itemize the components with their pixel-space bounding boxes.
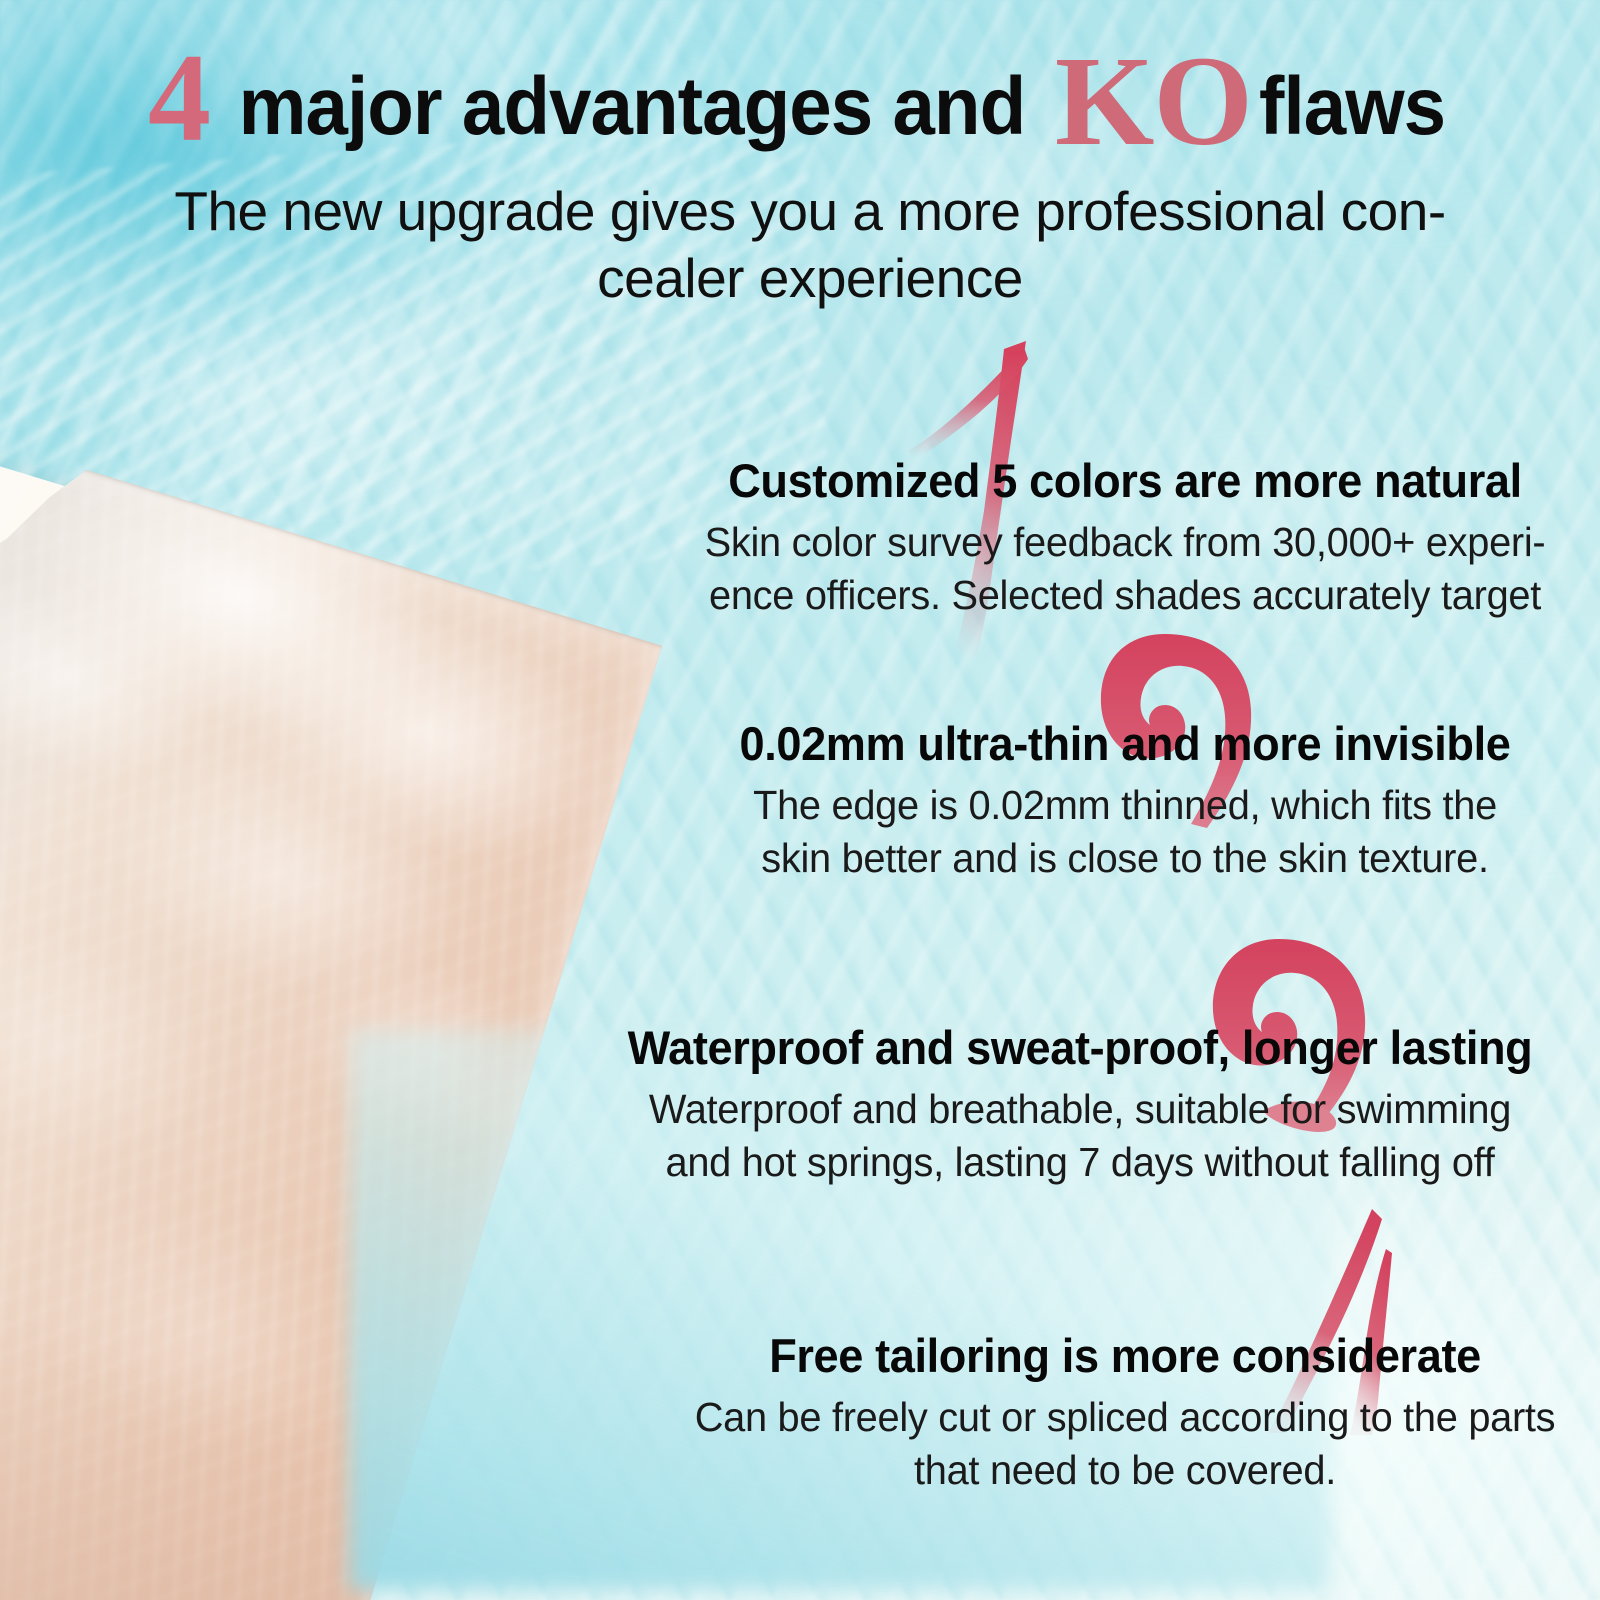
feature-block-2: 0.02mm ultra-thin and more invisible The…: [650, 718, 1600, 885]
headline-text: major advantages and: [239, 66, 1026, 148]
feature-3-title: Waterproof and sweat-proof, longer lasti…: [581, 1022, 1579, 1075]
subheadline-line-2: cealer experience: [110, 245, 1510, 312]
headline-number: 4: [148, 29, 209, 168]
feature-3-body-line-2: and hot springs, lasting 7 days without …: [576, 1136, 1585, 1189]
headline-tail: flaws: [1259, 66, 1445, 148]
feature-3-body: Waterproof and breathable, suitable for …: [576, 1083, 1585, 1190]
feature-3-body-line-1: Waterproof and breathable, suitable for …: [576, 1083, 1585, 1136]
headline-accent-ko: KO: [1055, 30, 1252, 172]
feature-block-4: Free tailoring is more considerate Can b…: [650, 1330, 1600, 1497]
feature-block-3: Waterproof and sweat-proof, longer lasti…: [560, 1022, 1600, 1189]
feature-2-title: 0.02mm ultra-thin and more invisible: [669, 718, 1581, 771]
feature-1-body-line-2: ence officers. Selected shades accuratel…: [664, 569, 1586, 622]
feature-1-body: Skin color survey feedback from 30,000+ …: [664, 516, 1586, 623]
feature-4-body-line-1: Can be freely cut or spliced according t…: [664, 1391, 1586, 1444]
headline: 4 major advantages and KO flaws: [0, 36, 1600, 165]
feature-1-title: Customized 5 colors are more natural: [669, 455, 1581, 508]
feature-2-body-line-2: skin better and is close to the skin tex…: [664, 832, 1586, 885]
subheadline: The new upgrade gives you a more profess…: [110, 178, 1510, 312]
feature-2-body: The edge is 0.02mm thinned, which fits t…: [664, 779, 1586, 886]
poster-canvas: 4 major advantages and KO flaws The new …: [0, 0, 1600, 1600]
feature-4-body-line-2: that need to be covered.: [664, 1444, 1586, 1497]
feature-4-body: Can be freely cut or spliced according t…: [664, 1391, 1586, 1498]
feature-2-body-line-1: The edge is 0.02mm thinned, which fits t…: [664, 779, 1586, 832]
feature-4-title: Free tailoring is more considerate: [669, 1330, 1581, 1383]
subheadline-line-1: The new upgrade gives you a more profess…: [110, 178, 1510, 245]
feature-1-body-line-1: Skin color survey feedback from 30,000+ …: [664, 516, 1586, 569]
feature-block-1: Customized 5 colors are more natural Ski…: [650, 455, 1600, 622]
